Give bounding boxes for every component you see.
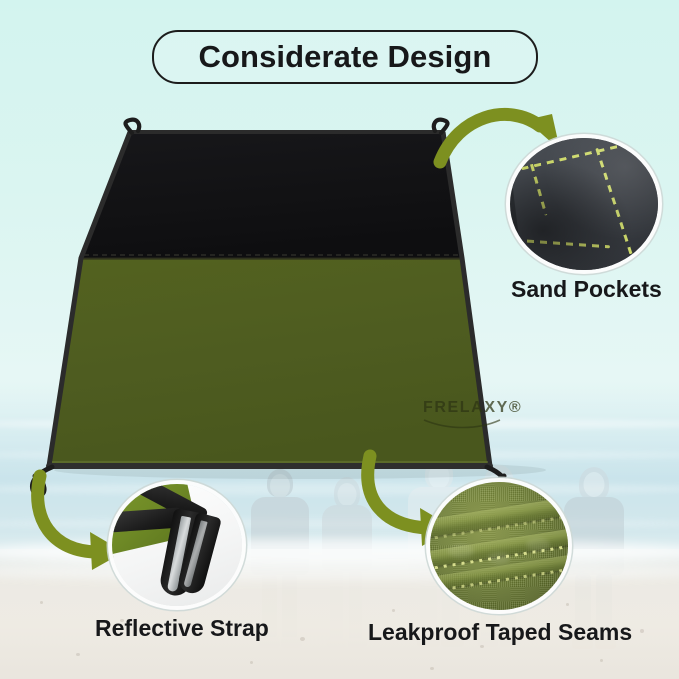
caption-taped-seams: Leakproof Taped Seams	[368, 619, 632, 646]
detail-circle-reflective-strap	[112, 484, 242, 606]
mat-top-panel	[81, 132, 462, 258]
page-title-box: Considerate Design	[152, 30, 538, 84]
product-feature-infographic: Considerate Design	[0, 0, 679, 679]
corner-loop-top-left	[126, 120, 140, 133]
caption-reflective-strap: Reflective Strap	[95, 615, 269, 642]
detail-circle-sand-pockets	[510, 138, 658, 270]
caption-sand-pockets: Sand Pockets	[511, 276, 662, 303]
detail-circle-taped-seams	[430, 482, 568, 610]
page-title: Considerate Design	[199, 39, 492, 75]
